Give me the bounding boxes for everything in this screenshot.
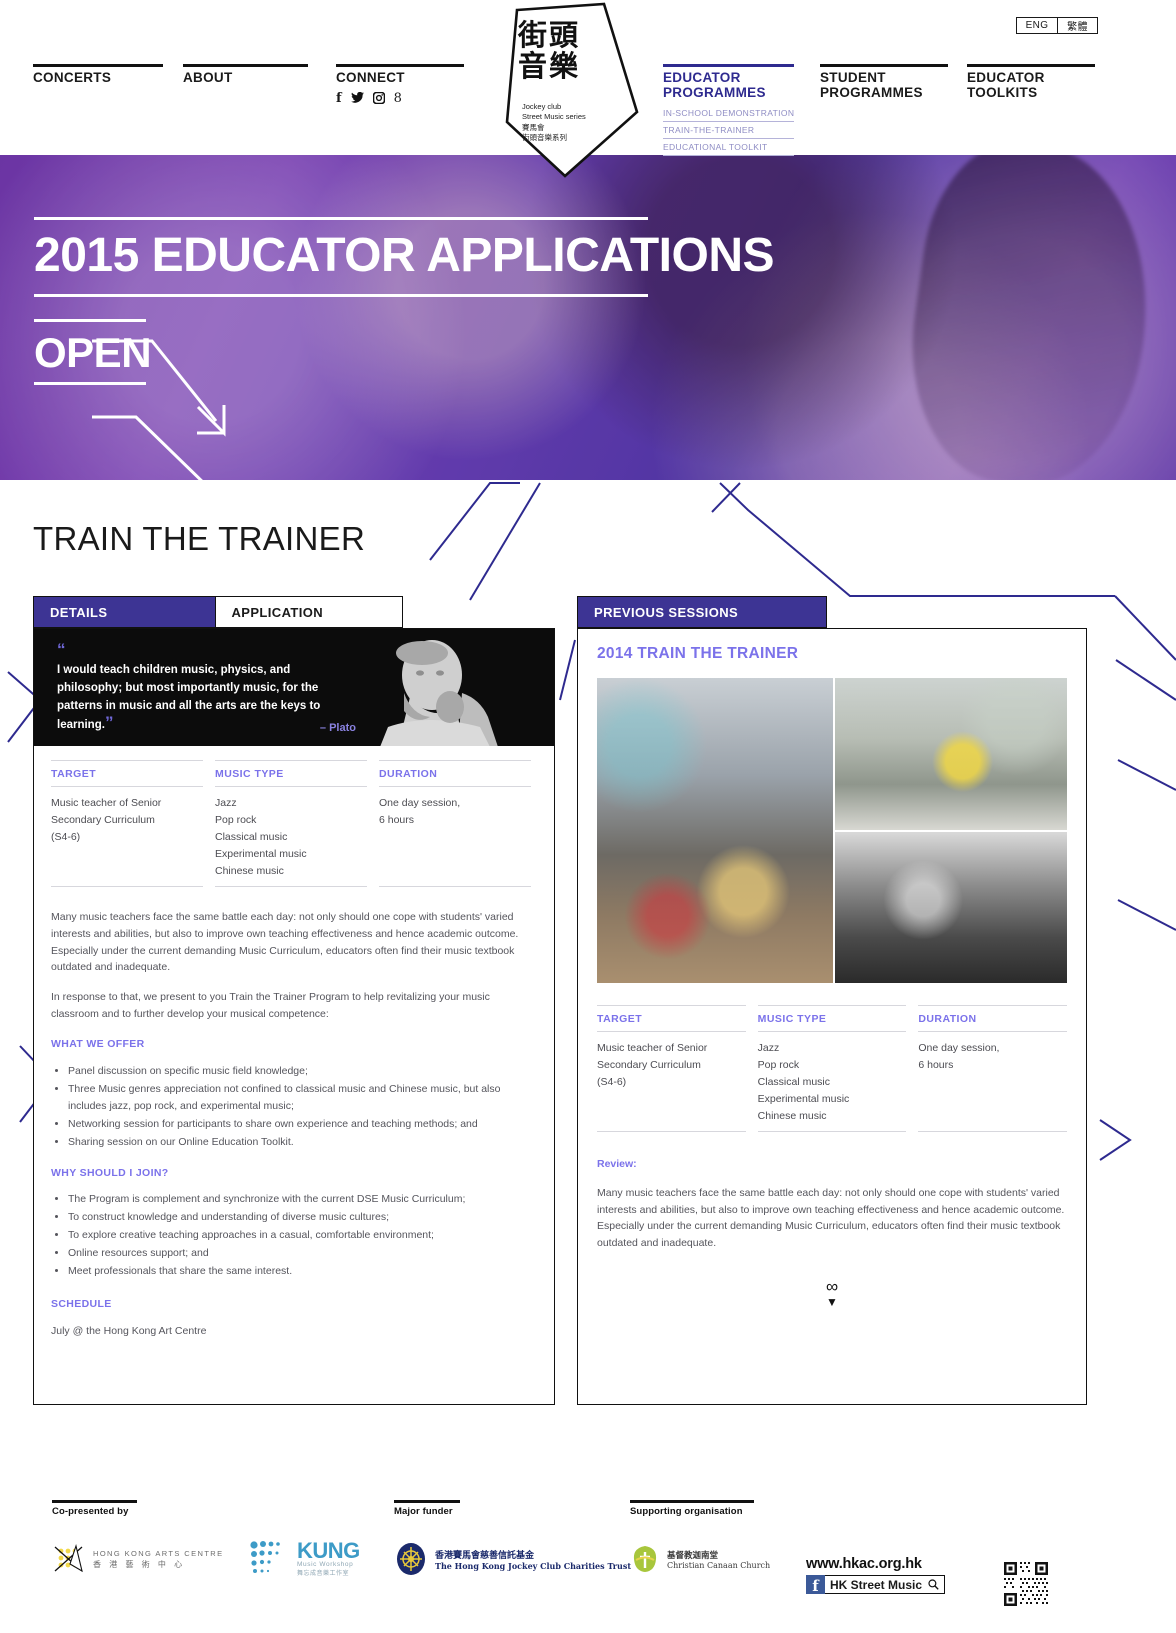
instagram-glyph bbox=[373, 92, 385, 104]
meta-heading-music-type: MUSIC TYPE bbox=[215, 761, 367, 786]
gallery-photo-bw[interactable] bbox=[835, 832, 1067, 984]
load-more-control[interactable]: ∞ ▼ bbox=[578, 1278, 1086, 1308]
meta-line: 6 hours bbox=[379, 812, 531, 829]
logo-sub-line4: 街頭音樂系列 bbox=[522, 133, 632, 143]
google-plus-icon[interactable]: 8 bbox=[394, 92, 402, 105]
nav-rule bbox=[663, 64, 794, 67]
details-paragraph-2: In response to that, we present to you T… bbox=[51, 989, 537, 1023]
meta-col-music-type: MUSIC TYPE Jazz Pop rock Classical music… bbox=[215, 760, 367, 887]
session-review: Review: Many music teachers face the sam… bbox=[578, 1156, 1086, 1252]
meta-rule-bottom bbox=[215, 886, 367, 887]
footer-label-co-presented: Co-presented by bbox=[52, 1500, 137, 1517]
footer-rule bbox=[394, 1500, 460, 1503]
meta-line: Music teacher of Senior bbox=[597, 1040, 746, 1057]
close-quote-mark: ” bbox=[105, 713, 114, 732]
schedule-text: July @ the Hong Kong Art Centre bbox=[51, 1323, 537, 1340]
nav-label-line1: EDUCATOR bbox=[967, 70, 1045, 85]
logo-cn-line1: 街頭 bbox=[518, 20, 618, 51]
nav-label-line1: STUDENT bbox=[820, 70, 886, 85]
nav-label-educator-programmes: EDUCATOR PROGRAMMES bbox=[663, 71, 794, 100]
nav-rule bbox=[336, 64, 464, 67]
meta-body-target: Music teacher of Senior Secondary Curric… bbox=[51, 787, 203, 846]
list-item: Sharing session on our Online Education … bbox=[68, 1134, 537, 1151]
meta-col-target: TARGET Music teacher of Senior Secondary… bbox=[51, 760, 203, 887]
meta-body-duration: One day session, 6 hours bbox=[918, 1032, 1067, 1074]
meta-line: Experimental music bbox=[758, 1091, 907, 1108]
quote-author: – Plato bbox=[320, 722, 356, 734]
review-heading: Review: bbox=[597, 1156, 1067, 1185]
subnav-item-train-the-trainer[interactable]: TRAIN-THE-TRAINER bbox=[663, 122, 794, 139]
nav-label-connect: CONNECT bbox=[336, 71, 464, 86]
logo-sub-line1: Jockey club bbox=[522, 102, 632, 112]
list-item: Meet professionals that share the same i… bbox=[68, 1263, 537, 1280]
meta-heading-target: TARGET bbox=[597, 1006, 746, 1031]
nav-label-concerts: CONCERTS bbox=[33, 71, 163, 86]
language-switch[interactable]: ENG 繁體 bbox=[1016, 17, 1098, 34]
footer-label-supporting: Supporting organisation bbox=[630, 1500, 754, 1517]
logo-sub-line3: 賽馬會 bbox=[522, 123, 632, 133]
caret-down-icon: ▼ bbox=[578, 1296, 1086, 1308]
page-title: TRAIN THE TRAINER bbox=[33, 520, 365, 558]
quote-text-wrap: “ I would teach children music, physics,… bbox=[57, 643, 357, 734]
meta-col-music-type: MUSIC TYPE Jazz Pop rock Classical music… bbox=[758, 1005, 907, 1132]
facebook-icon[interactable]: f bbox=[336, 92, 342, 105]
meta-col-duration: DURATION One day session, 6 hours bbox=[918, 1005, 1067, 1132]
list-item: Networking session for participants to s… bbox=[68, 1116, 537, 1133]
list-item: Panel discussion on specific music field… bbox=[68, 1063, 537, 1080]
logo-cn-line2: 音樂 bbox=[518, 51, 618, 82]
left-panel-tabs: DETAILS APPLICATION bbox=[33, 596, 401, 628]
hero-top-rule bbox=[34, 217, 648, 220]
site-footer: Co-presented by Major funder Supporting … bbox=[0, 1445, 1176, 1633]
nav-label-line1: EDUCATOR bbox=[663, 70, 741, 85]
footer-label-text: Co-presented by bbox=[52, 1506, 137, 1517]
footer-label-text: Major funder bbox=[394, 1506, 460, 1517]
review-text: Many music teachers face the same battle… bbox=[597, 1185, 1067, 1252]
site-logo[interactable]: 街頭 音樂 Jockey club Street Music series 賽馬… bbox=[492, 0, 642, 184]
heading-why-should-i-join: WHY SHOULD I JOIN? bbox=[51, 1165, 537, 1182]
site-header: ENG 繁體 CONCERTS ABOUT CONNECT f bbox=[0, 0, 1176, 155]
logo-subtitle: Jockey club Street Music series 賽馬會 街頭音樂… bbox=[522, 102, 632, 143]
page-root: ENG 繁體 CONCERTS ABOUT CONNECT f bbox=[0, 0, 1176, 1633]
meta-body-music-type: Jazz Pop rock Classical music Experiment… bbox=[215, 787, 367, 880]
instagram-icon[interactable] bbox=[373, 92, 385, 106]
subnav-item-educational-toolkit[interactable]: EDUCATIONAL TOOLKIT bbox=[663, 139, 794, 156]
meta-heading-duration: DURATION bbox=[918, 1006, 1067, 1031]
list-item: Online resources support; and bbox=[68, 1245, 537, 1262]
meta-col-target: TARGET Music teacher of Senior Secondary… bbox=[597, 1005, 746, 1132]
nav-item-concerts[interactable]: CONCERTS bbox=[33, 64, 163, 86]
hero-mid-rule bbox=[34, 294, 648, 297]
nav-item-about[interactable]: ABOUT bbox=[183, 64, 308, 86]
details-paragraph-1: Many music teachers face the same battle… bbox=[51, 909, 537, 976]
educator-subnav: IN-SCHOOL DEMONSTRATION TRAIN-THE-TRAINE… bbox=[663, 105, 794, 156]
nav-label-student-programmes: STUDENT PROGRAMMES bbox=[820, 71, 948, 100]
meta-line: Chinese music bbox=[215, 863, 367, 880]
details-panel: “ I would teach children music, physics,… bbox=[33, 628, 555, 1405]
tab-application[interactable]: APPLICATION bbox=[215, 596, 403, 628]
nav-label-line2: TOOLKITS bbox=[967, 85, 1037, 100]
meta-heading-target: TARGET bbox=[51, 761, 203, 786]
gallery-right-column bbox=[835, 678, 1067, 983]
footer-label-major-funder: Major funder bbox=[394, 1500, 460, 1517]
meta-line: Jazz bbox=[215, 795, 367, 812]
list-what-we-offer: Panel discussion on specific music field… bbox=[51, 1063, 537, 1151]
lang-trad[interactable]: 繁體 bbox=[1057, 18, 1097, 33]
nav-rule bbox=[33, 64, 163, 67]
meta-line: One day session, bbox=[918, 1040, 1067, 1057]
open-quote-mark: “ bbox=[57, 640, 66, 659]
right-panel-tabs: PREVIOUS SESSIONS bbox=[577, 596, 826, 628]
nav-label-educator-toolkits: EDUCATOR TOOLKITS bbox=[967, 71, 1095, 100]
meta-line: Pop rock bbox=[215, 812, 367, 829]
meta-body-target: Music teacher of Senior Secondary Curric… bbox=[597, 1032, 746, 1091]
gallery-photo-main[interactable] bbox=[597, 678, 833, 983]
footer-rule bbox=[52, 1500, 137, 1503]
list-item: Three Music genres appreciation not conf… bbox=[68, 1081, 537, 1115]
quote-block: “ I would teach children music, physics,… bbox=[34, 629, 554, 746]
twitter-icon[interactable] bbox=[351, 92, 364, 105]
nav-rule bbox=[183, 64, 308, 67]
meta-body-duration: One day session, 6 hours bbox=[379, 787, 531, 829]
nav-item-student-programmes[interactable]: STUDENT PROGRAMMES bbox=[820, 64, 948, 100]
meta-line: (S4-6) bbox=[51, 829, 203, 846]
nav-label-about: ABOUT bbox=[183, 71, 308, 86]
lang-eng[interactable]: ENG bbox=[1017, 18, 1057, 33]
details-meta-row: TARGET Music teacher of Senior Secondary… bbox=[34, 760, 554, 887]
list-item: To construct knowledge and understanding… bbox=[68, 1209, 537, 1226]
nav-label-line2: PROGRAMMES bbox=[820, 85, 923, 100]
meta-line: Experimental music bbox=[215, 846, 367, 863]
tab-previous-sessions[interactable]: PREVIOUS SESSIONS bbox=[577, 596, 827, 628]
meta-line: Classical music bbox=[215, 829, 367, 846]
list-item: To explore creative teaching approaches … bbox=[68, 1227, 537, 1244]
hero-banner: 2015 EDUCATOR APPLICATIONS OPEN bbox=[0, 155, 1176, 480]
social-links: f 8 bbox=[336, 92, 464, 106]
meta-line: Classical music bbox=[758, 1074, 907, 1091]
meta-line: 6 hours bbox=[918, 1057, 1067, 1074]
heading-what-we-offer: WHAT WE OFFER bbox=[51, 1036, 537, 1053]
meta-rule-bottom bbox=[51, 886, 203, 887]
nav-rule bbox=[820, 64, 948, 67]
nav-item-educator-toolkits[interactable]: EDUCATOR TOOLKITS bbox=[967, 64, 1095, 100]
footer-rule bbox=[630, 1500, 754, 1503]
nav-item-educator-programmes[interactable]: EDUCATOR PROGRAMMES IN-SCHOOL DEMONSTRAT… bbox=[663, 64, 794, 156]
twitter-glyph bbox=[351, 92, 364, 103]
meta-line: Pop rock bbox=[758, 1057, 907, 1074]
gallery-photo-singer[interactable] bbox=[835, 678, 1067, 830]
list-why-join: The Program is complement and synchroniz… bbox=[51, 1191, 537, 1280]
details-body: Many music teachers face the same battle… bbox=[34, 909, 554, 1340]
meta-line: Jazz bbox=[758, 1040, 907, 1057]
meta-line: Chinese music bbox=[758, 1108, 907, 1125]
meta-rule-bottom bbox=[758, 1131, 907, 1132]
hero-diagonal-arrow bbox=[34, 305, 294, 480]
infinity-icon: ∞ bbox=[826, 1277, 838, 1296]
nav-rule bbox=[967, 64, 1095, 67]
photo-singer-guitar bbox=[835, 678, 1067, 830]
meta-line: Music teacher of Senior bbox=[51, 795, 203, 812]
meta-body-music-type: Jazz Pop rock Classical music Experiment… bbox=[758, 1032, 907, 1125]
photo-audience-bw bbox=[835, 832, 1067, 984]
tab-details[interactable]: DETAILS bbox=[33, 596, 216, 628]
meta-heading-music-type: MUSIC TYPE bbox=[758, 1006, 907, 1031]
session-title: 2014 TRAIN THE TRAINER bbox=[578, 629, 1086, 663]
session-gallery bbox=[597, 678, 1067, 983]
nav-item-connect[interactable]: CONNECT f 8 bbox=[336, 64, 464, 106]
heading-schedule: SCHEDULE bbox=[51, 1296, 537, 1313]
photo-band-performance bbox=[597, 678, 833, 983]
logo-chinese-name: 街頭 音樂 bbox=[518, 20, 618, 83]
meta-line: (S4-6) bbox=[597, 1074, 746, 1091]
logo-sub-line2: Street Music series bbox=[522, 112, 632, 122]
nav-label-line2: PROGRAMMES bbox=[663, 85, 766, 100]
subnav-item-in-school-demonstration[interactable]: IN-SCHOOL DEMONSTRATION bbox=[663, 105, 794, 122]
plato-bust-image bbox=[358, 635, 538, 746]
list-item: The Program is complement and synchroniz… bbox=[68, 1191, 537, 1208]
meta-rule-bottom bbox=[597, 1131, 746, 1132]
meta-line: Secondary Curriculum bbox=[597, 1057, 746, 1074]
meta-rule-bottom bbox=[918, 1131, 1067, 1132]
session-meta-row: TARGET Music teacher of Senior Secondary… bbox=[578, 1005, 1086, 1132]
meta-rule-bottom bbox=[379, 886, 531, 887]
meta-line: Secondary Curriculum bbox=[51, 812, 203, 829]
hero-title: 2015 EDUCATOR APPLICATIONS bbox=[34, 231, 774, 281]
footer-label-text: Supporting organisation bbox=[630, 1506, 754, 1517]
previous-sessions-panel: 2014 TRAIN THE TRAINER TARGET Music teac… bbox=[577, 628, 1087, 1405]
meta-heading-duration: DURATION bbox=[379, 761, 531, 786]
quote-text: I would teach children music, physics, a… bbox=[57, 664, 320, 730]
meta-line: One day session, bbox=[379, 795, 531, 812]
meta-col-duration: DURATION One day session, 6 hours bbox=[379, 760, 531, 887]
